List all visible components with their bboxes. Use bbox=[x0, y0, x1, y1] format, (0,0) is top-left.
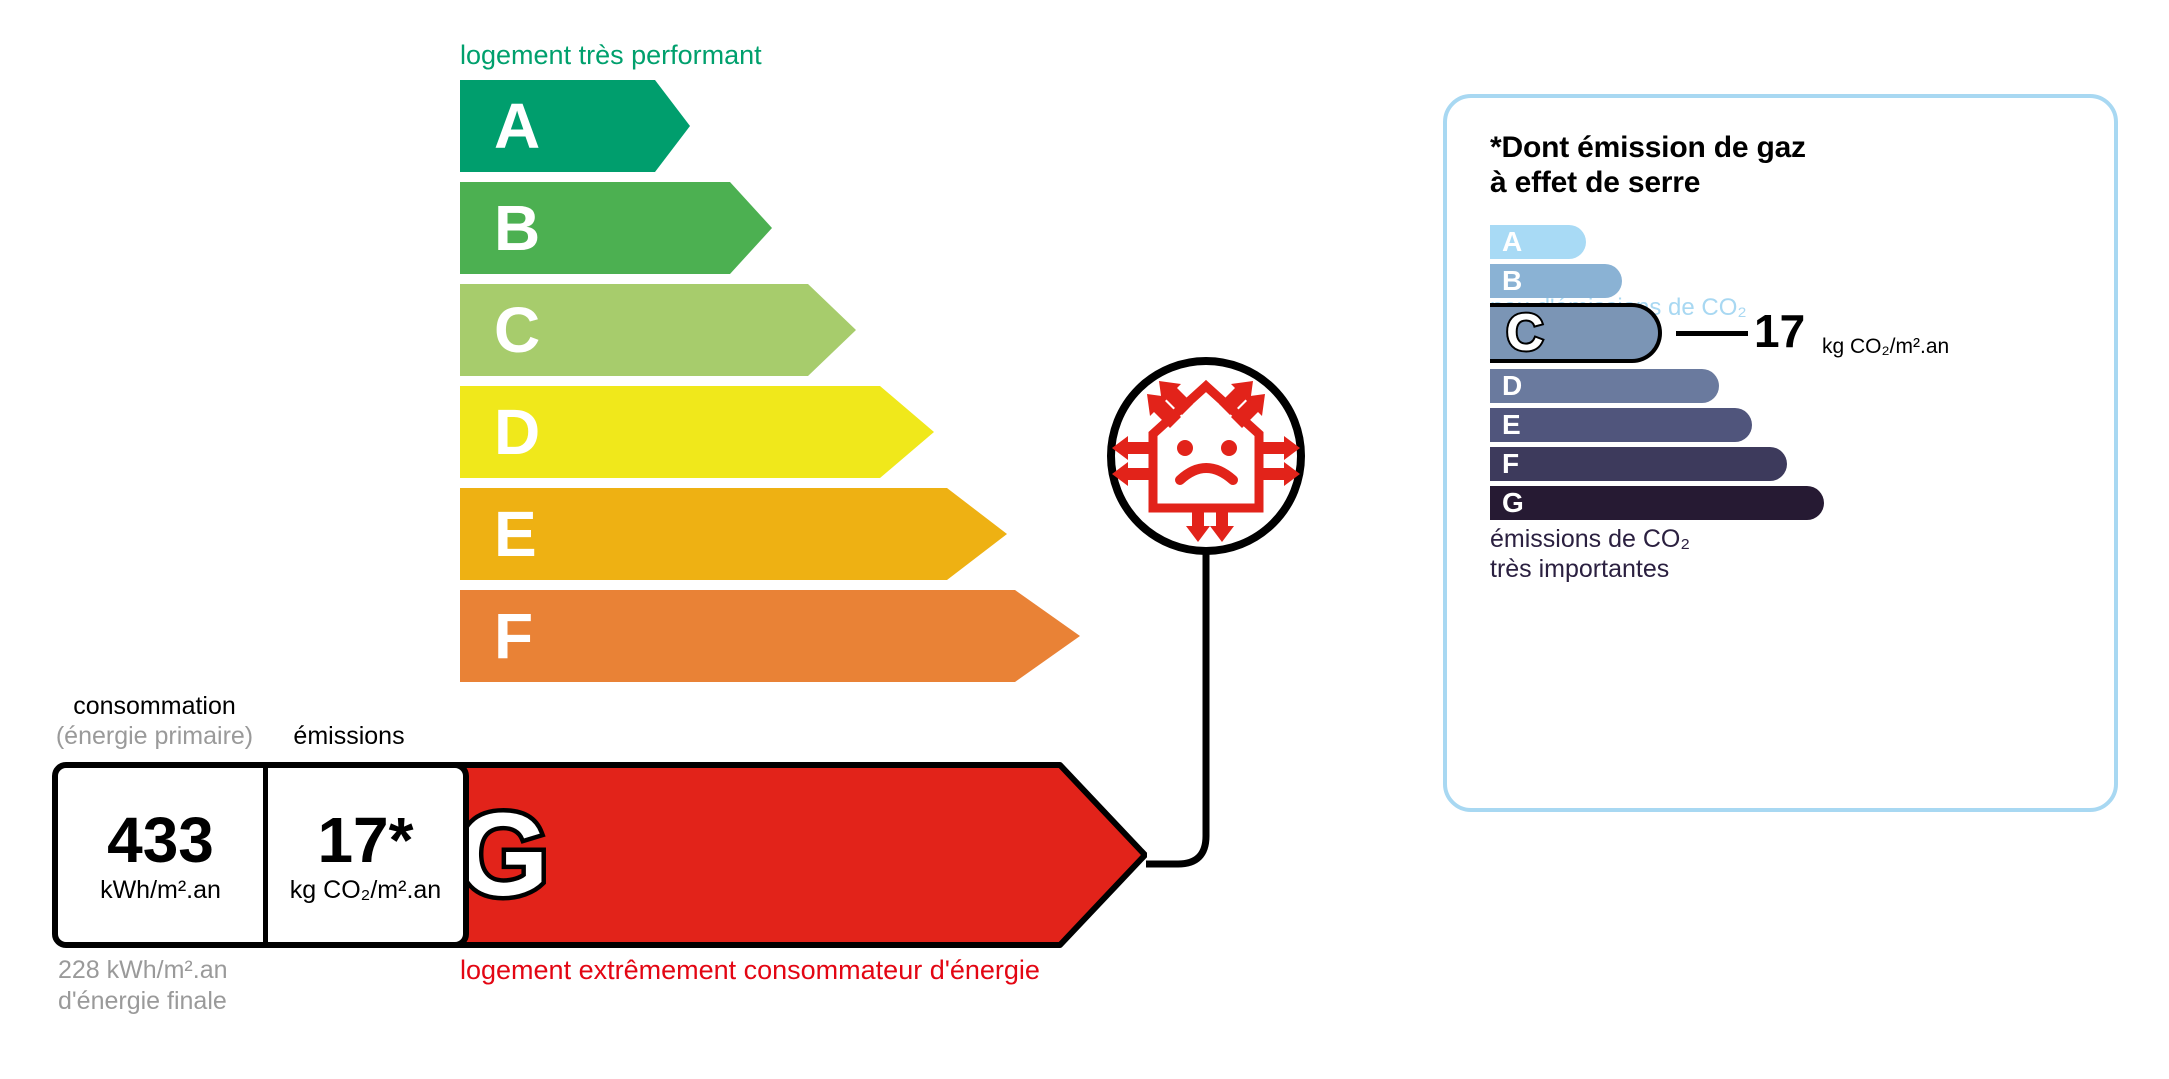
co2-bar-row-e: E bbox=[1490, 408, 2090, 442]
co2-bar-d bbox=[1490, 369, 1719, 403]
co2-title-line-2: à effet de serre bbox=[1490, 165, 1806, 200]
co2-bar-letter-d: D bbox=[1502, 372, 1522, 400]
co2-callout-unit: kg CO₂/m².an bbox=[1822, 336, 1949, 357]
energy-top-caption: logement très performant bbox=[460, 40, 762, 71]
consumption-header: consommation bbox=[52, 692, 257, 721]
band-letter-b: B bbox=[494, 196, 540, 260]
co2-bar-letter-e: E bbox=[1502, 411, 1521, 439]
co2-bar-row-a: A bbox=[1490, 225, 2090, 259]
co2-bar-letter-g: G bbox=[1502, 489, 1524, 517]
co2-bar-f bbox=[1490, 447, 1787, 481]
co2-bar-row-d: D bbox=[1490, 369, 2090, 403]
emissions-cell: 17* kg CO₂/m².an bbox=[263, 768, 463, 942]
co2-bars: ABCDEFG bbox=[1490, 225, 2090, 525]
co2-callout-line bbox=[1676, 331, 1748, 336]
dpe-diagram: logement très performant ABCDEF logement… bbox=[0, 0, 2169, 1079]
band-letter-f: F bbox=[494, 604, 533, 668]
co2-bar-row-f: F bbox=[1490, 447, 2090, 481]
sad-house-heat-loss-icon bbox=[1106, 356, 1306, 556]
energy-band-f: F bbox=[460, 590, 1080, 682]
consumption-unit: kWh/m².an bbox=[100, 878, 221, 903]
co2-bar-g bbox=[1490, 486, 1824, 520]
energy-band-b: B bbox=[460, 182, 772, 274]
final-energy-label: d'énergie finale bbox=[58, 986, 228, 1017]
band-letter-a: A bbox=[494, 94, 540, 158]
band-shape-f bbox=[460, 590, 1080, 682]
result-row: G 433 kWh/m².an 17* kg CO₂/m².an bbox=[52, 762, 1147, 948]
final-energy-note: 228 kWh/m².an d'énergie finale bbox=[58, 955, 228, 1016]
co2-bar-letter-a: A bbox=[1502, 228, 1522, 256]
co2-bar-letter-c: C bbox=[1506, 307, 1544, 359]
co2-bottom-caption-line-1: émissions de CO₂ bbox=[1490, 524, 1690, 554]
co2-title-line-1: *Dont émission de gaz bbox=[1490, 130, 1806, 165]
band-letter-c: C bbox=[494, 298, 540, 362]
emissions-unit: kg CO₂/m².an bbox=[290, 878, 441, 903]
energy-band-c: C bbox=[460, 284, 856, 376]
consumption-value: 433 bbox=[107, 808, 214, 872]
energy-bottom-caption: logement extrêmement consommateur d'éner… bbox=[460, 955, 1040, 986]
co2-bar-row-b: B bbox=[1490, 264, 2090, 298]
result-header-labels: consommation (énergie primaire) émission… bbox=[52, 692, 482, 762]
co2-panel: *Dont émission de gaz à effet de serre p… bbox=[1443, 94, 2118, 812]
band-shape-e bbox=[460, 488, 1007, 580]
consumption-cell: 433 kWh/m².an bbox=[58, 768, 263, 942]
co2-bar-letter-b: B bbox=[1502, 267, 1522, 295]
band-letter-e: E bbox=[494, 502, 537, 566]
co2-bar-e bbox=[1490, 408, 1752, 442]
energy-band-e: E bbox=[460, 488, 1007, 580]
co2-bottom-caption-line-2: très importantes bbox=[1490, 554, 1690, 584]
emissions-value: 17* bbox=[317, 808, 413, 872]
co2-bar-row-g: G bbox=[1490, 486, 2090, 520]
co2-bar-letter-f: F bbox=[1502, 450, 1519, 478]
co2-callout-value: 17 bbox=[1754, 308, 1805, 354]
emissions-header: émissions bbox=[264, 722, 434, 751]
final-energy-value: 228 kWh/m².an bbox=[58, 955, 228, 986]
energy-band-a: A bbox=[460, 80, 690, 172]
co2-panel-title: *Dont émission de gaz à effet de serre bbox=[1490, 130, 1806, 201]
consumption-subheader: (énergie primaire) bbox=[52, 722, 257, 751]
result-values-box: 433 kWh/m².an 17* kg CO₂/m².an bbox=[52, 762, 469, 948]
energy-performance-ladder: logement très performant ABCDEF logement… bbox=[0, 0, 1300, 1079]
result-band-letter: G bbox=[457, 789, 549, 921]
band-letter-d: D bbox=[494, 400, 540, 464]
co2-bottom-caption: émissions de CO₂ très importantes bbox=[1490, 524, 1690, 584]
energy-band-d: D bbox=[460, 386, 934, 478]
